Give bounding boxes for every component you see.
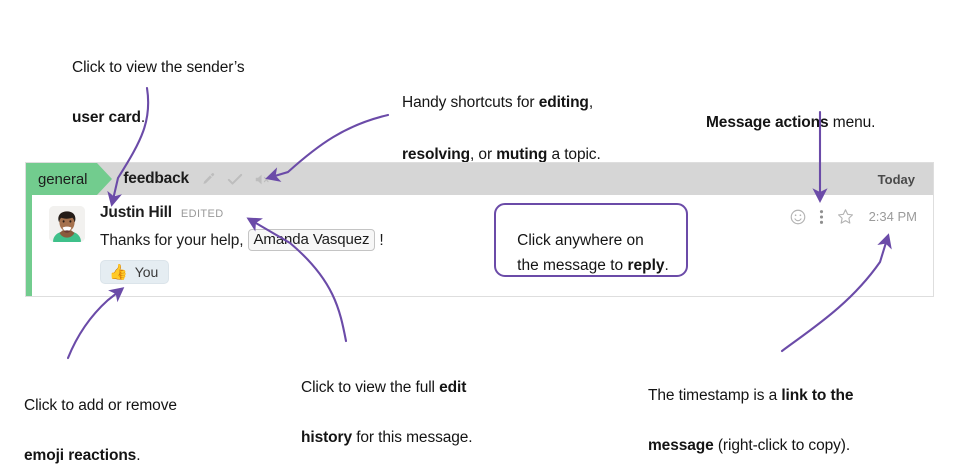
annotation-reply-callout-bold: reply: [627, 257, 664, 274]
edited-badge[interactable]: EDITED: [181, 208, 224, 220]
annotation-topic-shortcuts-resolving: resolving: [402, 146, 470, 163]
annotation-topic-shortcuts-pre: Handy shortcuts for: [402, 94, 539, 111]
annotation-emoji-reactions: Click to add or remove emoji reactions.: [24, 368, 177, 468]
annotation-topic-shortcuts-editing: editing: [539, 94, 589, 111]
date-label: Today: [878, 172, 915, 187]
emoji-reaction-pill[interactable]: 👍 You: [100, 260, 169, 284]
annotation-edit-history: Click to view the full edit history for …: [301, 350, 473, 450]
message-panel: general feedback Today: [26, 163, 933, 296]
annotation-timestamp-link-tail: (right-click to copy).: [714, 437, 850, 454]
annotation-edit-history-b1: edit: [439, 379, 466, 396]
annotation-message-actions: Message actions menu.: [706, 85, 875, 135]
mute-speaker-icon[interactable]: [254, 172, 272, 187]
annotation-user-card-line1: Click to view the sender’s: [72, 59, 245, 76]
topic-header-bar: general feedback Today: [26, 163, 933, 195]
reaction-count-label: You: [135, 264, 159, 280]
annotation-reply-callout-pre: Click anywhere on the message to: [517, 232, 644, 274]
annotation-reply-callout-tail: .: [665, 257, 669, 274]
annotation-timestamp-link: The timestamp is a link to the message (…: [648, 358, 853, 458]
topic-name-label[interactable]: feedback: [123, 170, 189, 188]
annotation-message-actions-bold: Message actions: [706, 114, 829, 131]
annotation-user-card-tail: .: [141, 109, 145, 126]
message-controls: 2:34 PM: [790, 208, 917, 225]
annotation-timestamp-link-b1: link to the: [781, 387, 853, 404]
annotation-emoji-reactions-bold: emoji reactions: [24, 447, 136, 464]
annotation-edit-history-pre: Click to view the full: [301, 379, 439, 396]
message-row[interactable]: Justin Hill EDITED Thanks for your help,…: [26, 195, 933, 296]
arrow-to-reaction-pill: [68, 289, 122, 358]
sender-name[interactable]: Justin Hill: [100, 204, 172, 222]
topic-action-icons: [201, 172, 272, 187]
avatar[interactable]: [49, 206, 85, 242]
annotation-topic-shortcuts-muting: muting: [496, 146, 547, 163]
annotation-user-card-bold: user card: [72, 109, 141, 126]
thumbs-up-icon: 👍: [109, 265, 128, 280]
annotation-edit-history-tail: for this message.: [352, 429, 473, 446]
annotation-user-card: Click to view the sender’s user card.: [72, 30, 245, 130]
emoji-reaction-icon[interactable]: [790, 209, 806, 225]
annotation-reply-callout: Click anywhere on the message to reply.: [494, 203, 688, 277]
annotation-emoji-reactions-tail: .: [136, 447, 140, 464]
edit-pencil-icon[interactable]: [201, 172, 216, 187]
user-mention-pill[interactable]: Amanda Vasquez: [248, 229, 376, 251]
stream-name-pill[interactable]: general: [26, 163, 97, 195]
annotation-timestamp-link-b2: message: [648, 437, 714, 454]
message-timestamp[interactable]: 2:34 PM: [869, 209, 917, 224]
annotation-emoji-reactions-line1: Click to add or remove: [24, 397, 177, 414]
stream-name-label: general: [38, 171, 87, 188]
message-text-after: !: [379, 230, 383, 251]
annotation-edit-history-b2: history: [301, 429, 352, 446]
star-icon[interactable]: [837, 208, 854, 225]
annotation-topic-shortcuts-mid2: , or: [470, 146, 496, 163]
resolve-check-icon[interactable]: [227, 172, 243, 187]
annotation-message-actions-tail: menu.: [829, 114, 876, 131]
message-text-before: Thanks for your help,: [100, 230, 244, 251]
annotation-topic-shortcuts-tail: a topic.: [547, 146, 600, 163]
annotation-timestamp-link-pre: The timestamp is a: [648, 387, 781, 404]
annotation-topic-shortcuts: Handy shortcuts for editing, resolving, …: [402, 64, 601, 168]
message-actions-menu-icon[interactable]: [819, 209, 824, 225]
